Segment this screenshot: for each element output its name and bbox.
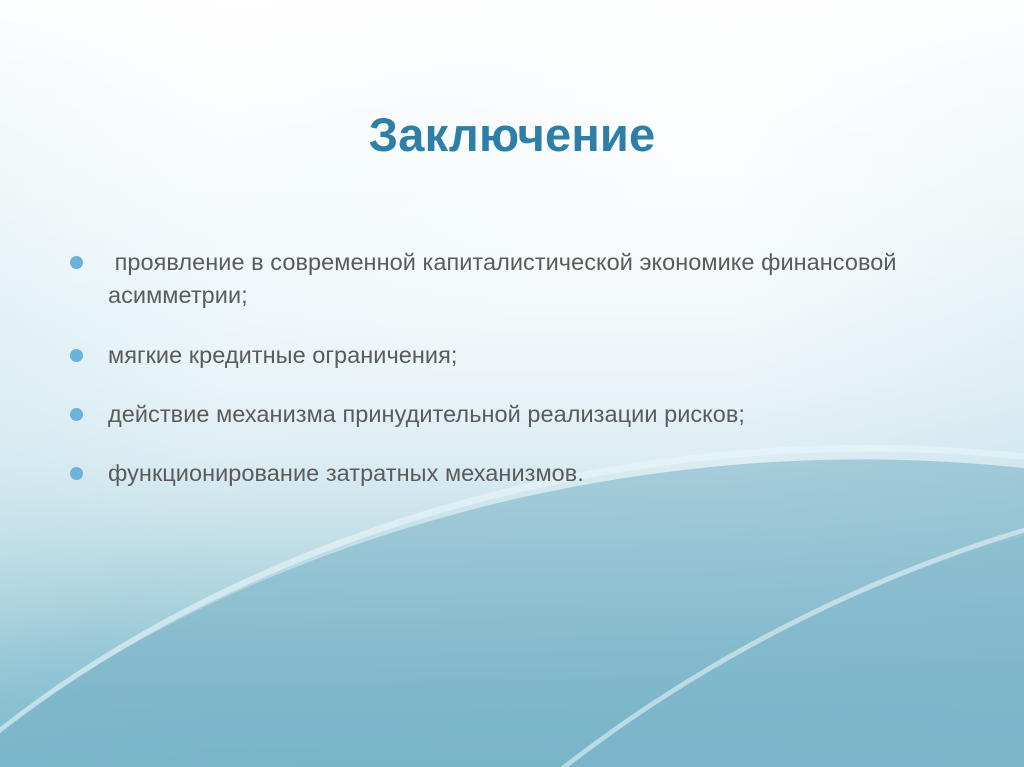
list-item: проявление в современной капиталистическ… [62, 246, 942, 313]
list-item: функционирование затратных механизмов. [62, 457, 942, 490]
slide-content: Заключение проявление в современной капи… [0, 0, 1024, 767]
presentation-slide: Заключение проявление в современной капи… [0, 0, 1024, 767]
bullet-dot-icon [70, 256, 83, 269]
list-item-text: действие механизма принудительной реализ… [108, 398, 942, 431]
list-item: действие механизма принудительной реализ… [62, 398, 942, 431]
bullet-dot-icon [70, 349, 83, 362]
bullet-list: проявление в современной капиталистическ… [62, 246, 942, 491]
slide-title: Заключение [0, 109, 1024, 161]
bullet-dot-icon [70, 467, 83, 480]
list-item-text: функционирование затратных механизмов. [108, 457, 942, 490]
list-item-text: проявление в современной капиталистическ… [108, 246, 942, 313]
list-item: мягкие кредитные ограничения; [62, 339, 942, 372]
list-item-text: мягкие кредитные ограничения; [108, 339, 942, 372]
bullet-dot-icon [70, 408, 83, 421]
